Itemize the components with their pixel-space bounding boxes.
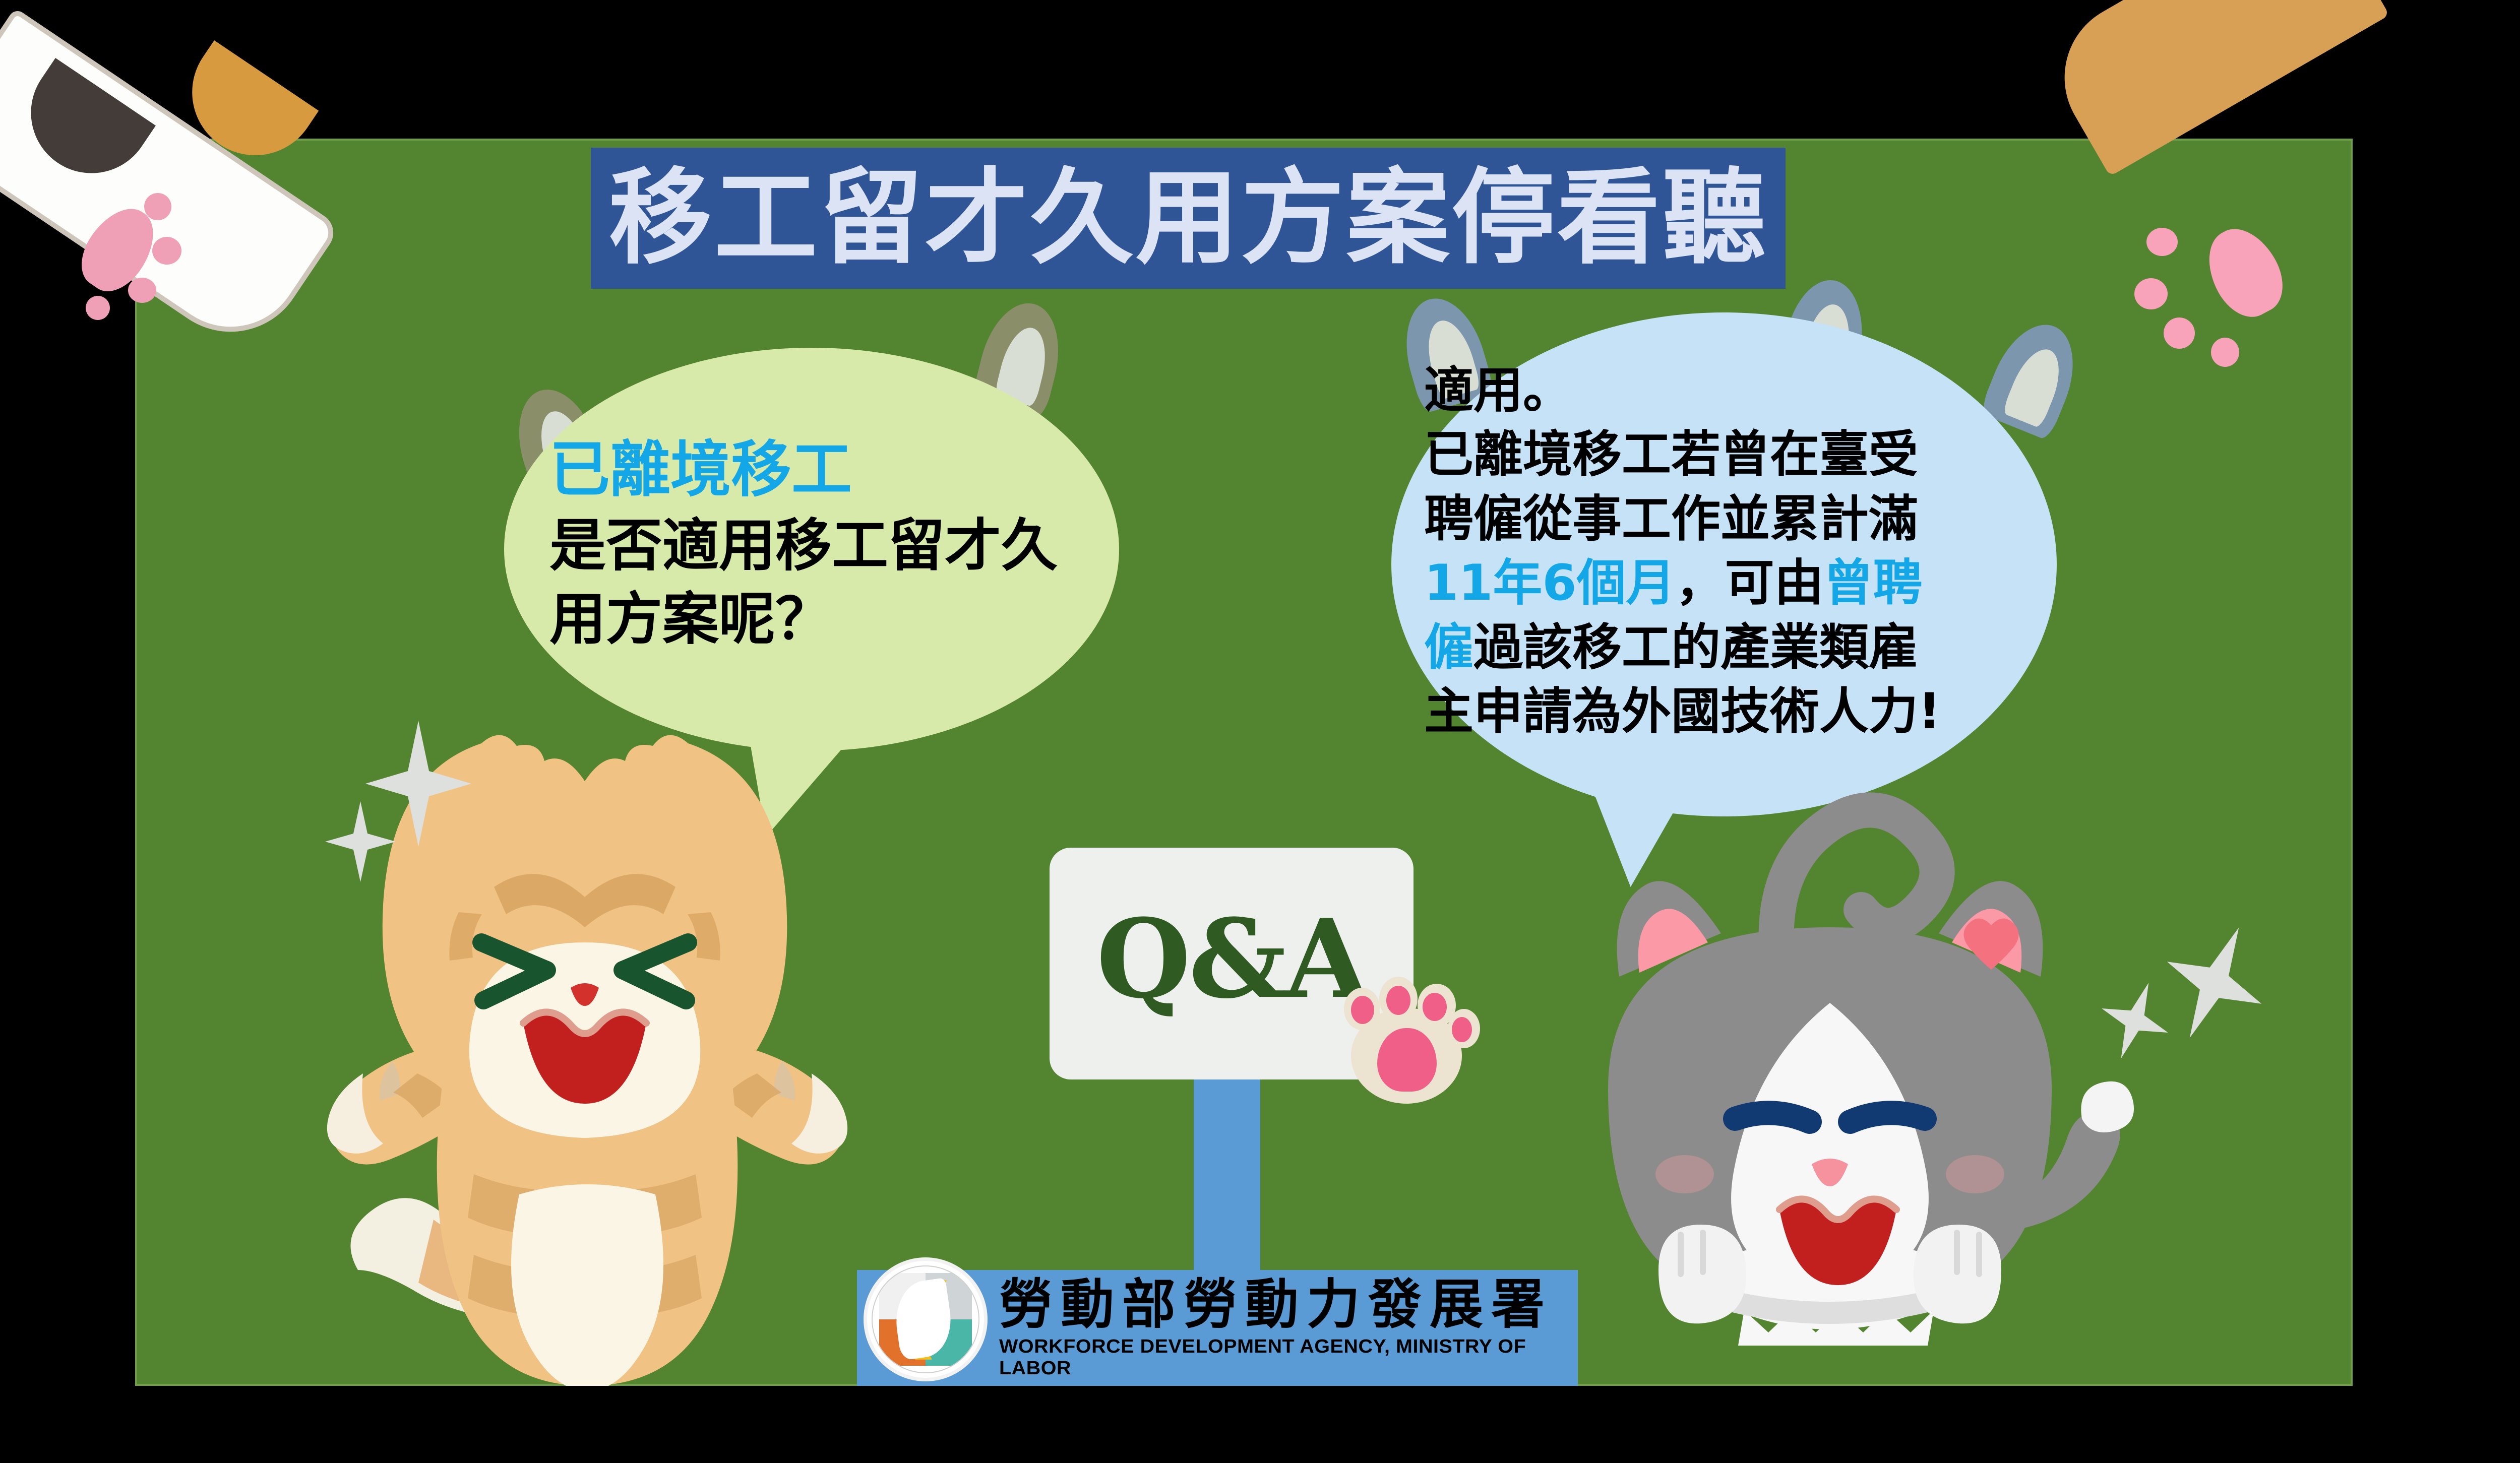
question-body-text: 是否適用移工留才久用方案呢？ bbox=[549, 510, 1089, 656]
qa-sign-post bbox=[1194, 1068, 1260, 1285]
answer-segment-4-0: 僱 bbox=[1424, 619, 1473, 676]
answer-segment-1-0: 已離境移工若曾在臺受 bbox=[1424, 426, 1918, 483]
answer-bubble-line-5: 主申請為外國技術人力! bbox=[1424, 680, 2029, 744]
gray-white-cat-sitting bbox=[1507, 786, 2163, 1386]
question-bubble-text: 已離境移工 是否適用移工留才久用方案呢？ bbox=[549, 431, 1089, 656]
paw-print-icon bbox=[1331, 973, 1482, 1109]
answer-bubble-line-1: 已離境移工若曾在臺受 bbox=[1424, 423, 2029, 487]
answer-segment-3-1: ，可由 bbox=[1676, 554, 1824, 612]
poster-canvas: 移工留才久用方案停看聽 已離境移工 是否適用移工留才久用方案呢？ 適用。已離境移… bbox=[0, 0, 2520, 1463]
tan-paw-arm bbox=[2072, 10, 2490, 403]
answer-bubble-line-0: 適用。 bbox=[1424, 359, 2029, 423]
page-title: 移工留才久用方案停看聽 bbox=[609, 167, 1768, 270]
agency-logo-text: 勞動部勞動力發展署 WORKFORCE DEVELOPMENT AGENCY, … bbox=[999, 1277, 1578, 1379]
answer-segment-4-1: 過該移工的產業類雇 bbox=[1473, 619, 1918, 676]
agency-seal-icon bbox=[867, 1261, 984, 1378]
question-highlight: 已離境移工 bbox=[549, 435, 852, 505]
title-banner: 移工留才久用方案停看聽 bbox=[591, 148, 1786, 289]
answer-segment-2-0: 聘僱從事工作並累計滿 bbox=[1424, 490, 1918, 548]
answer-segment-0-0: 適用。 bbox=[1424, 362, 1572, 419]
answer-bubble-line-3: 11年6個月，可由曾聘 bbox=[1424, 551, 2029, 615]
qa-sign-label: Q&A bbox=[1096, 905, 1367, 1013]
answer-bubble-text: 適用。已離境移工若曾在臺受聘僱從事工作並累計滿11年6個月，可由曾聘僱過該移工的… bbox=[1424, 359, 2029, 744]
agency-logo-bar: 勞動部勞動力發展署 WORKFORCE DEVELOPMENT AGENCY, … bbox=[857, 1270, 1578, 1386]
answer-bubble-line-4: 僱過該移工的產業類雇 bbox=[1424, 616, 2029, 680]
answer-segment-5-0: 主申請為外國技術人力! bbox=[1424, 683, 1941, 740]
calico-paw-arm bbox=[15, 8, 439, 391]
answer-segment-3-0: 11年6個月 bbox=[1424, 554, 1676, 612]
agency-name-en: WORKFORCE DEVELOPMENT AGENCY, MINISTRY O… bbox=[999, 1336, 1601, 1379]
answer-bubble-line-2: 聘僱從事工作並累計滿 bbox=[1424, 487, 2029, 551]
agency-name-zh: 勞動部勞動力發展署 bbox=[999, 1277, 1578, 1332]
answer-segment-3-2: 曾聘 bbox=[1824, 554, 1923, 612]
orange-tabby-cat-cheering bbox=[282, 721, 902, 1386]
